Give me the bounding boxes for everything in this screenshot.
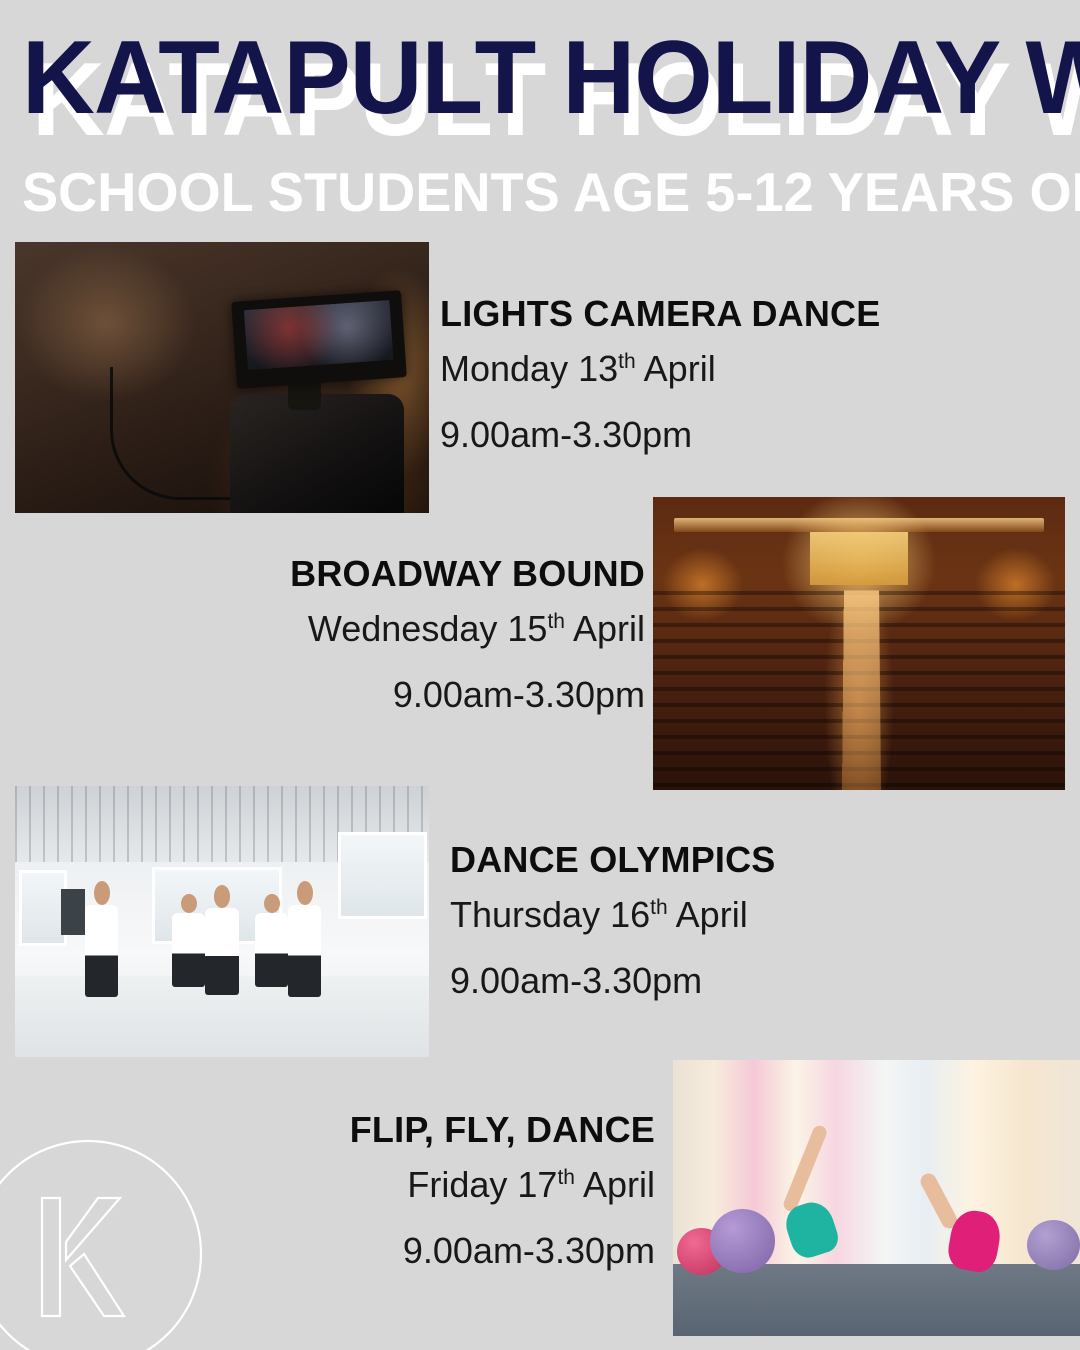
workshop-title: BROADWAY BOUND	[25, 552, 645, 596]
workshop-date-number: 13	[578, 348, 618, 389]
workshop-info-dance-olympics: DANCE OLYMPICS Thursday 16th April 9.00a…	[450, 838, 1070, 1014]
photo-gym-scene	[673, 1060, 1080, 1336]
workshop-date: Friday 17th April	[55, 1152, 655, 1218]
workshop-date-suffix: th	[650, 896, 668, 919]
gym-exercise-ball	[1027, 1220, 1080, 1270]
workshop-info-lights-camera-dance: LIGHTS CAMERA DANCE Monday 13th April 9.…	[440, 292, 1060, 468]
workshop-day: Monday	[440, 348, 568, 389]
workshop-date-suffix: th	[547, 610, 565, 633]
gym-floor-mat	[673, 1264, 1080, 1336]
poster-title: KATAPULT HOLIDAY WORKSHOPS KATAPULT HOLI…	[22, 26, 1062, 136]
gymnast-pink-leotard	[909, 1162, 1007, 1278]
workshop-month: April	[644, 348, 716, 389]
workshop-photo-flip-fly-dance	[673, 1060, 1080, 1336]
studio-window-right	[338, 832, 427, 919]
workshop-info-broadway-bound: BROADWAY BOUND Wednesday 15th April 9.00…	[25, 552, 645, 728]
workshop-day: Thursday	[450, 894, 600, 935]
workshop-day: Friday	[407, 1164, 507, 1205]
poster-canvas: KATAPULT HOLIDAY WORKSHOPS KATAPULT HOLI…	[0, 0, 1080, 1350]
poster-subtitle: SCHOOL STUDENTS AGE 5-12 YEARS OLD	[22, 162, 1051, 222]
photo-camera-scene	[15, 242, 429, 513]
studio-window-left	[19, 870, 66, 946]
camera-body	[230, 394, 404, 513]
workshop-date: Wednesday 15th April	[25, 596, 645, 662]
workshop-date-number: 16	[610, 894, 650, 935]
camera-monitor	[232, 290, 407, 388]
workshop-month: April	[583, 1164, 655, 1205]
workshop-date-number: 15	[507, 608, 547, 649]
workshop-title: DANCE OLYMPICS	[450, 838, 1070, 882]
studio-speaker	[61, 889, 86, 935]
studio-dancer	[288, 905, 321, 997]
poster-header: KATAPULT HOLIDAY WORKSHOPS KATAPULT HOLI…	[0, 0, 1080, 232]
workshop-date-suffix: th	[557, 1166, 575, 1189]
workshop-date-suffix: th	[618, 350, 636, 373]
studio-dancer	[85, 905, 118, 997]
gymnast-raised-leg	[782, 1123, 830, 1213]
workshop-title: LIGHTS CAMERA DANCE	[440, 292, 1060, 336]
workshop-photo-broadway-bound	[653, 497, 1065, 790]
workshop-date: Thursday 16th April	[450, 882, 1070, 948]
photo-studio-scene	[15, 786, 429, 1057]
workshop-date-number: 17	[517, 1164, 557, 1205]
studio-dancer	[255, 913, 288, 986]
workshop-time: 9.00am-3.30pm	[440, 402, 1060, 468]
workshop-month: April	[676, 894, 748, 935]
poster-title-text: KATAPULT HOLIDAY WORKSHOPS	[22, 26, 1031, 130]
camera-monitor-screen	[244, 300, 394, 371]
workshop-time: 9.00am-3.30pm	[25, 662, 645, 728]
workshop-info-flip-fly-dance: FLIP, FLY, DANCE Friday 17th April 9.00a…	[55, 1108, 655, 1284]
studio-dancer	[205, 908, 238, 995]
workshop-time: 9.00am-3.30pm	[450, 948, 1070, 1014]
studio-dancer	[172, 913, 205, 986]
workshop-photo-lights-camera-dance	[15, 242, 429, 513]
workshop-photo-dance-olympics	[15, 786, 429, 1057]
workshop-day: Wednesday	[308, 608, 497, 649]
photo-theatre-scene	[653, 497, 1065, 790]
theatre-centre-aisle	[841, 591, 880, 790]
theatre-cornice	[674, 518, 1045, 533]
workshop-date: Monday 13th April	[440, 336, 1060, 402]
workshop-month: April	[573, 608, 645, 649]
workshop-time: 9.00am-3.30pm	[55, 1218, 655, 1284]
workshop-title: FLIP, FLY, DANCE	[55, 1108, 655, 1152]
gymnast-teal-leotard	[763, 1146, 853, 1273]
gymnast-raised-leg	[917, 1171, 959, 1232]
theatre-stage	[810, 532, 909, 585]
